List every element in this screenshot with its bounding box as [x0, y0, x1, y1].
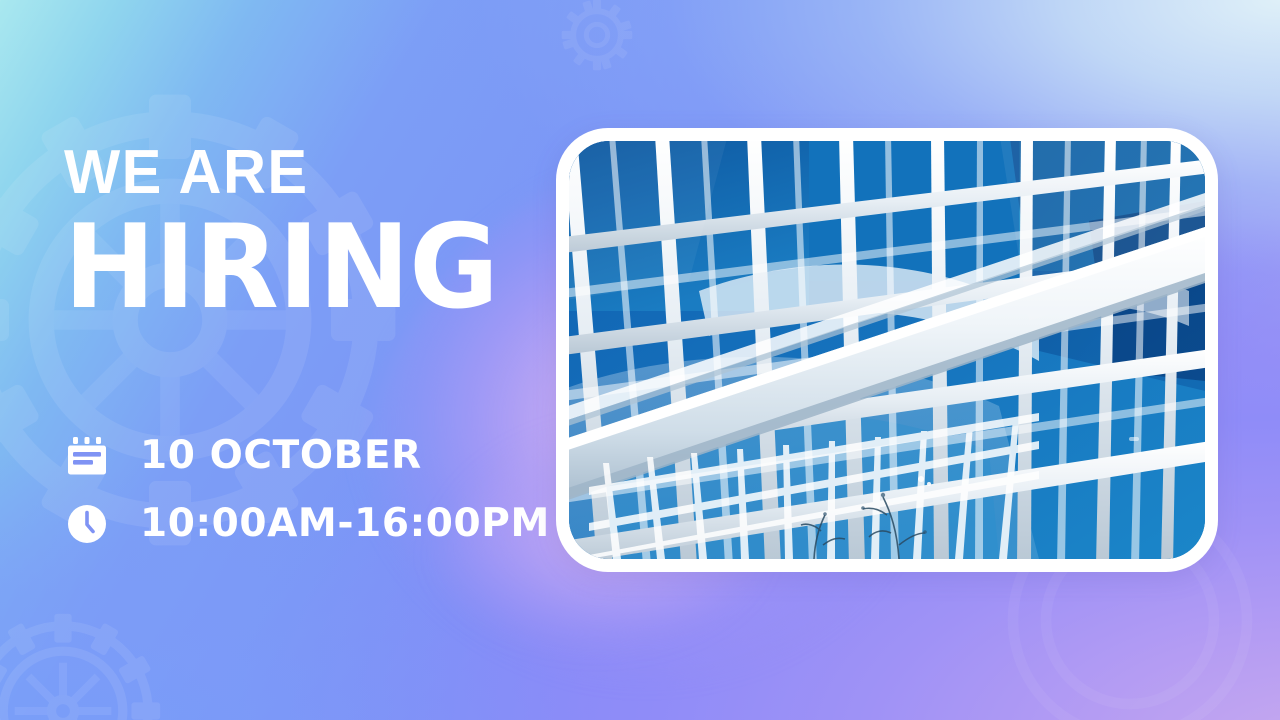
building-illustration: [569, 141, 1205, 559]
event-date-text: 10 OCTOBER: [140, 435, 422, 477]
photo-card: [556, 128, 1218, 572]
headline-block: WE ARE HIRING: [64, 140, 584, 324]
event-info-list: 10 OCTOBER 10:00AM-16:00PM: [66, 428, 550, 564]
event-time-text: 10:00AM-16:00PM: [140, 503, 550, 545]
headline-line-2: HIRING: [64, 212, 553, 324]
glass-office-building-photo: [569, 141, 1205, 559]
clock-icon: [66, 503, 108, 545]
event-time-row: 10:00AM-16:00PM: [66, 496, 550, 552]
event-date-row: 10 OCTOBER: [66, 428, 550, 484]
calendar-icon: [66, 435, 108, 477]
hiring-poster: WE ARE HIRING 10 OCTOBER: [0, 0, 1280, 720]
headline-line-1: WE ARE: [64, 140, 563, 206]
